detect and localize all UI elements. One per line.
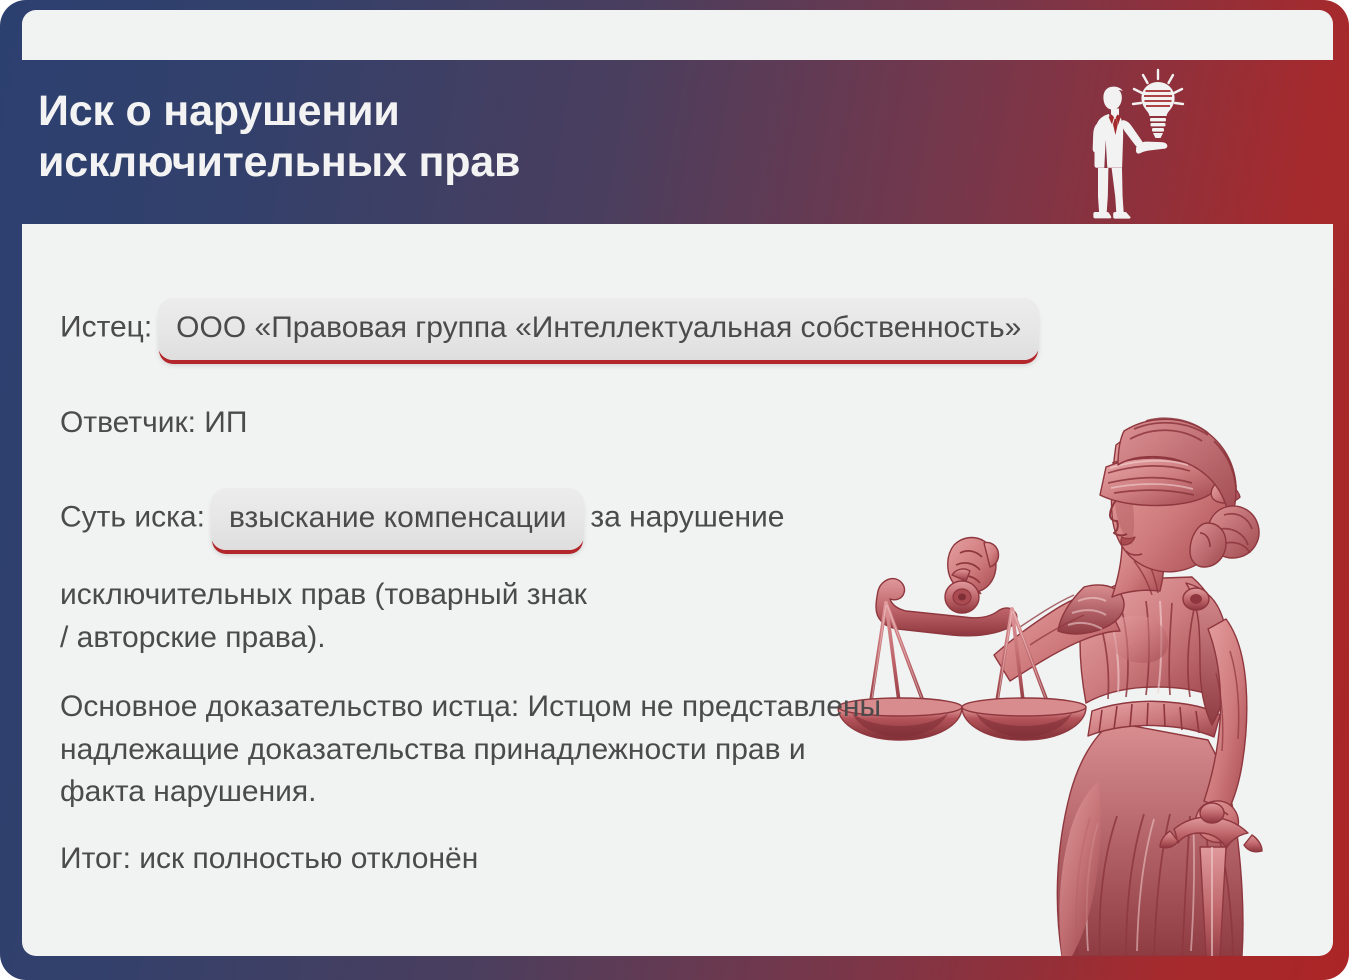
plaintiff-label: Истец: <box>60 311 152 344</box>
claim-tail-text: за нарушение <box>590 501 784 534</box>
page-title: Иск о нарушении исключительных прав <box>38 86 938 187</box>
evidence-text: Основное доказательство истца: Истцом не… <box>60 686 890 814</box>
claim-highlight-pill[interactable]: взыскание компенсации <box>211 488 584 550</box>
content-card: Истец:ООО «Правовая группа «Интеллектуал… <box>22 224 1333 956</box>
plaintiff-row: Истец:ООО «Правовая группа «Интеллектуал… <box>60 298 1045 360</box>
outcome-text: Итог: иск полностью отклонён <box>60 838 478 881</box>
card-frame: Иск о нарушении исключительных прав <box>0 0 1349 980</box>
plaintiff-value-pill[interactable]: ООО «Правовая группа «Интеллектуальная с… <box>158 298 1039 360</box>
top-accent-strip <box>22 10 1333 60</box>
claim-continuation-text: исключительных прав (товарный знак / авт… <box>60 574 820 659</box>
claim-row: Суть иска:взыскание компенсацииза наруше… <box>60 488 1110 550</box>
header-band: Иск о нарушении исключительных прав <box>0 60 1349 222</box>
defendant-row: Ответчик: ИП <box>60 402 247 445</box>
claim-label: Суть иска: <box>60 501 205 534</box>
businessman-with-lightbulb-icon <box>1070 62 1210 220</box>
